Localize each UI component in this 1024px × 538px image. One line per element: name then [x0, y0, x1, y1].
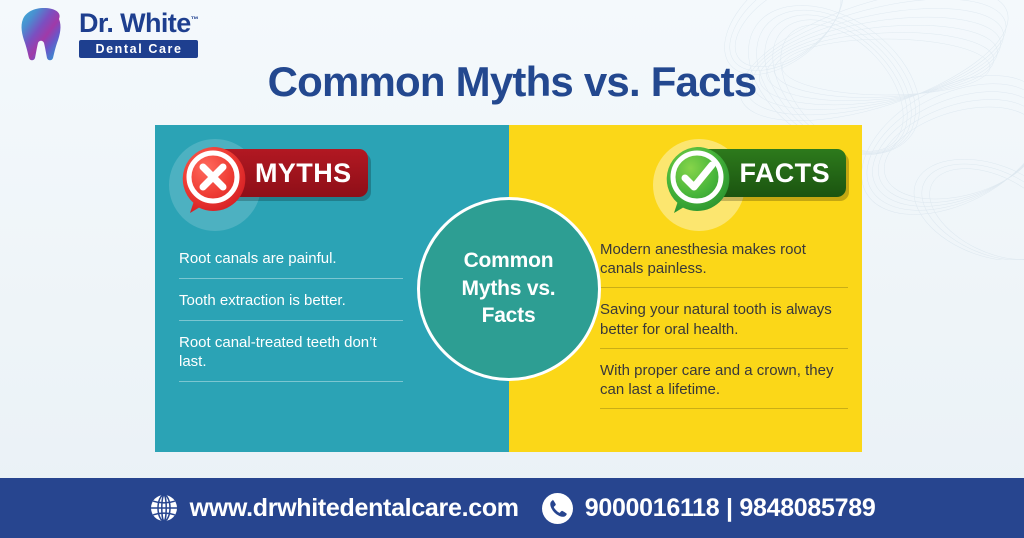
phone-icon [541, 492, 574, 525]
myths-badge-label: MYTHS [255, 158, 352, 189]
myths-list-item: Tooth extraction is better. [179, 291, 403, 321]
tooth-icon [18, 6, 70, 62]
phone-numbers[interactable]: 9000016118 | 9848085789 [585, 494, 876, 523]
brand-logo[interactable]: Dr. White™ Dental Care [18, 6, 198, 62]
header: Dr. White™ Dental Care Common Myths vs. … [0, 0, 1024, 120]
facts-list: Modern anesthesia makes root canals pain… [600, 240, 848, 409]
website-group[interactable]: www.drwhitedentalcare.com [149, 493, 519, 523]
globe-icon [149, 493, 179, 523]
brand-wordmark: Dr. White™ Dental Care [79, 10, 198, 59]
website-url[interactable]: www.drwhitedentalcare.com [190, 494, 519, 523]
trademark-symbol: ™ [191, 15, 198, 24]
brand-name: Dr. White™ [79, 10, 198, 37]
page-title: Common Myths vs. Facts [0, 58, 1024, 106]
myths-badge: MYTHS [177, 149, 368, 197]
myths-list-item: Root canals are painful. [179, 249, 403, 279]
brand-name-text: Dr. White [79, 8, 191, 38]
brand-subtitle: Dental Care [79, 40, 198, 59]
facts-badge-label: FACTS [739, 158, 830, 189]
circle-check-icon [661, 143, 733, 217]
venn-center-circle: Common Myths vs. Facts [417, 197, 601, 381]
myths-list: Root canals are painful. Tooth extractio… [179, 249, 403, 382]
facts-list-item: With proper care and a crown, they can l… [600, 361, 848, 409]
myths-list-item: Root canal-treated teeth don’t last. [179, 333, 403, 383]
facts-badge: FACTS [661, 149, 846, 197]
facts-list-item: Saving your natural tooth is always bett… [600, 300, 848, 348]
phone-group[interactable]: 9000016118 | 9848085789 [541, 492, 876, 525]
facts-list-item: Modern anesthesia makes root canals pain… [600, 240, 848, 288]
venn-center-label: Common Myths vs. Facts [462, 247, 556, 331]
circle-x-icon [177, 143, 249, 217]
venn-diagram: MYTHS Root canals are painful. Tooth ext… [155, 125, 862, 452]
footer-contact-bar: www.drwhitedentalcare.com 9000016118 | 9… [0, 478, 1024, 538]
